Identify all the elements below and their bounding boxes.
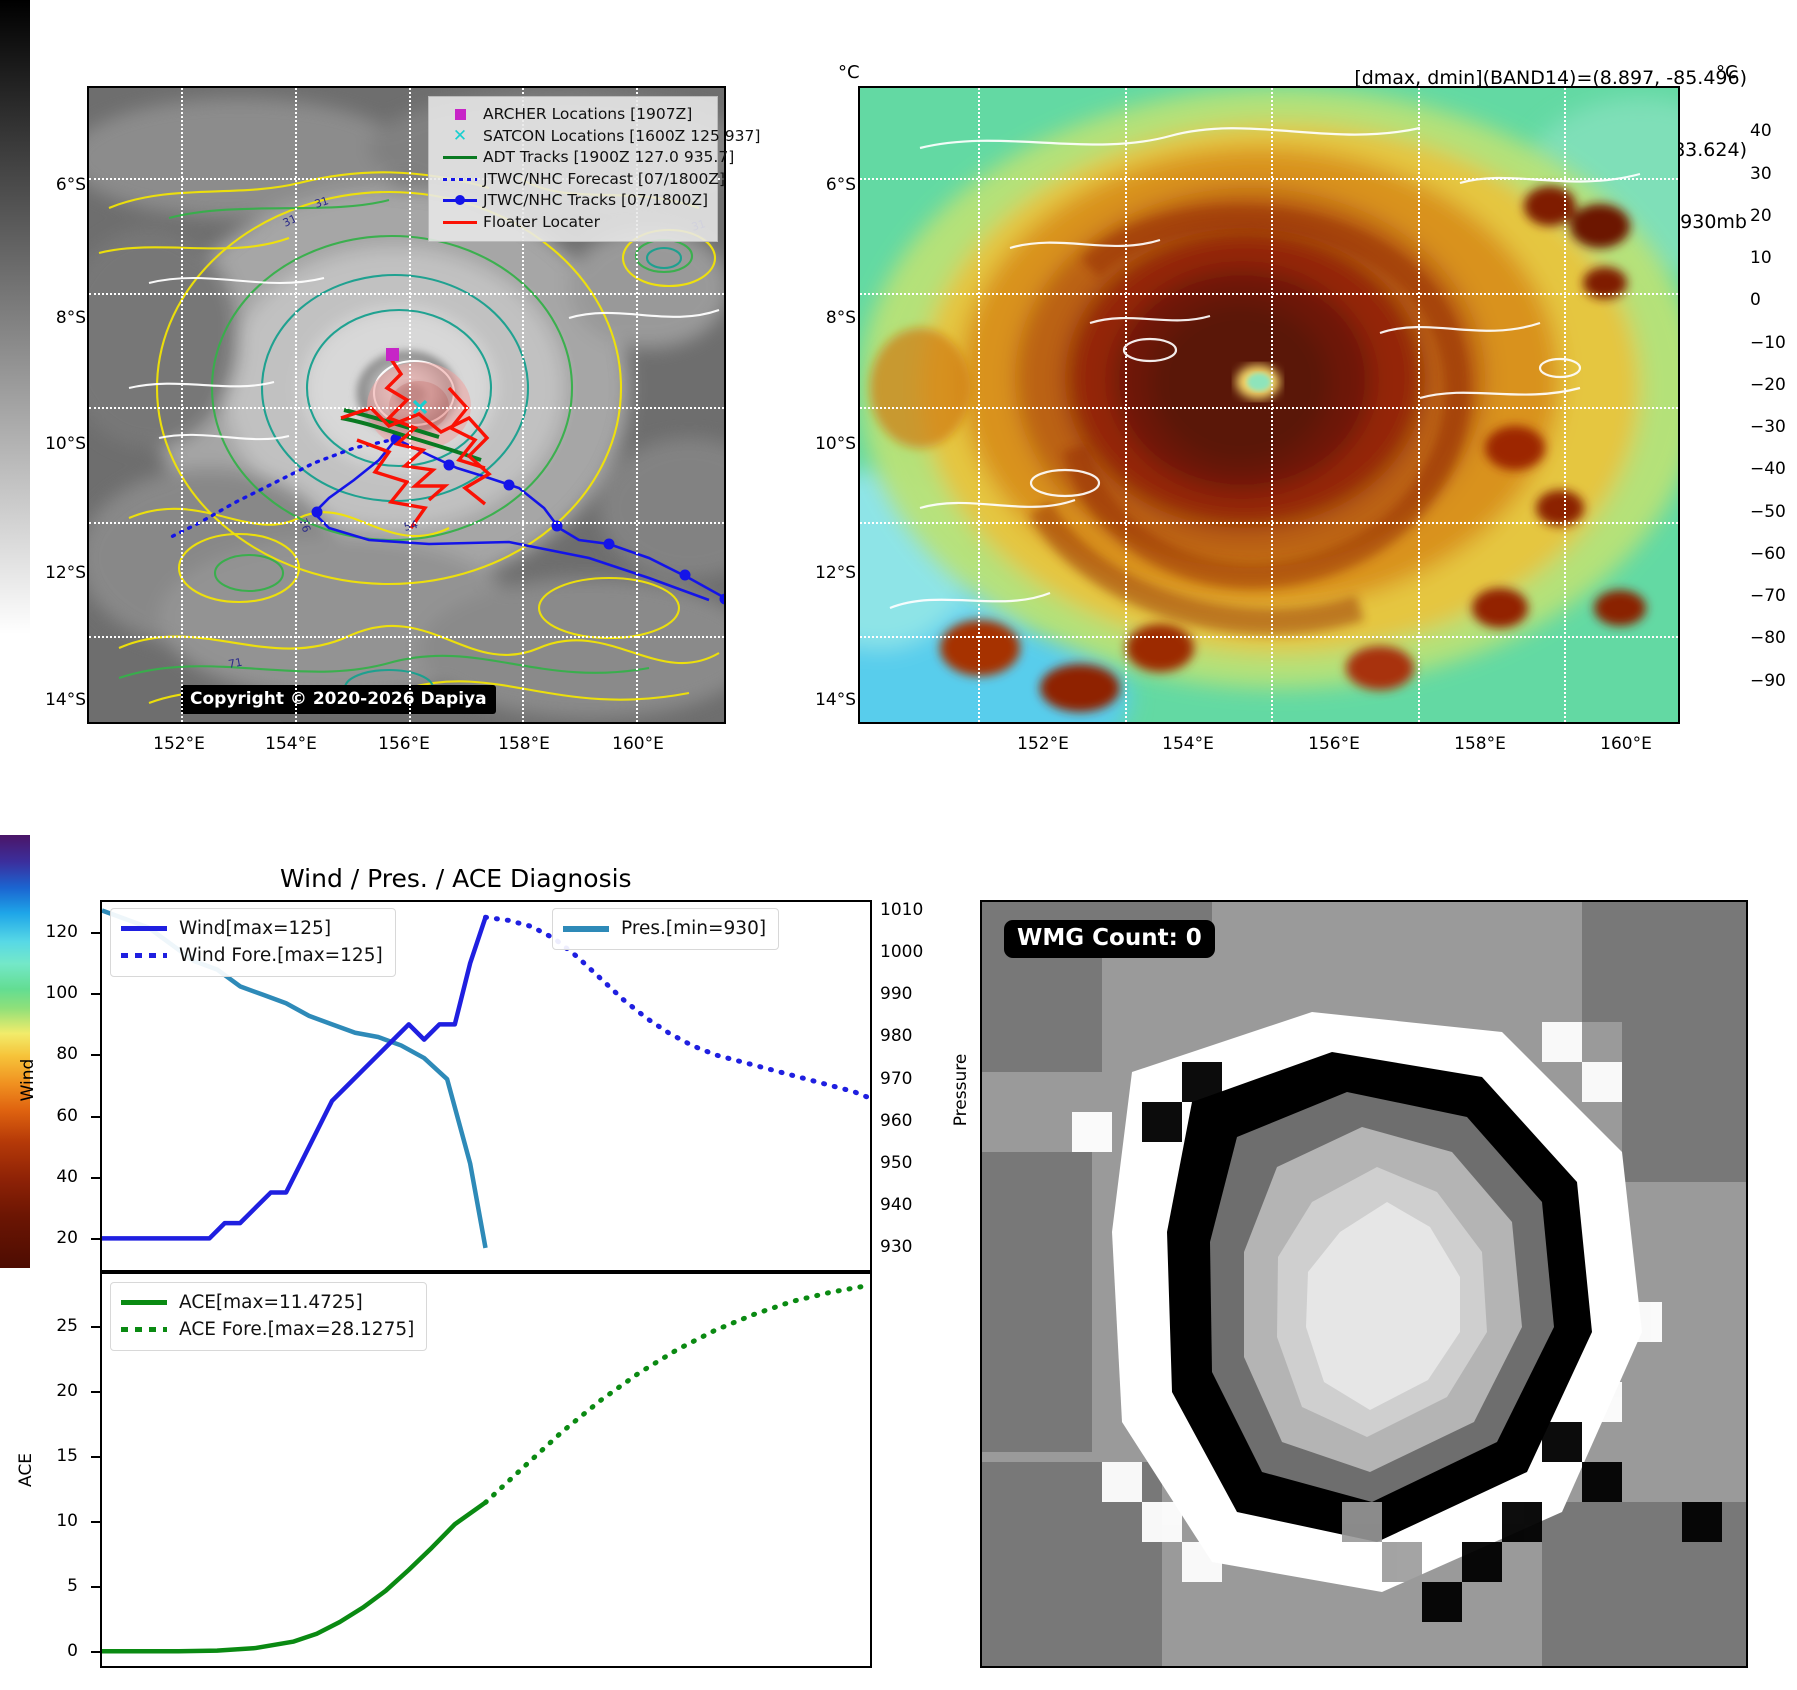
legend-item-floater: Floater Locater: [437, 212, 709, 234]
pressure-ytick-2: 950: [880, 1153, 932, 1173]
ace-chart-legend: ACE[max=11.4725] ACE Fore.[max=28.1275]: [110, 1282, 427, 1351]
legend-item-adt: ADT Tracks [1900Z 127.0 935.7]: [437, 147, 709, 169]
wind-ytick-0: 20: [28, 1228, 78, 1248]
map-gridline-horizontal: [860, 636, 1680, 638]
ace-ytick-1: 5: [34, 1576, 78, 1596]
wv-colorbar-tick-2: 20: [1750, 206, 1772, 226]
pressure-ytick-8: 1010: [880, 900, 932, 920]
wv-lon-tick-4: 160°E: [1586, 734, 1666, 754]
wv-colorbar-tick-13: −90: [1750, 671, 1786, 691]
svg-text:71: 71: [227, 656, 243, 671]
wind-ytickmark-2: [91, 1116, 100, 1118]
copyright-badge: Copyright © 2020-2026 Dapiya: [181, 685, 496, 714]
map-gridline-horizontal: [860, 522, 1680, 524]
wind-ytick-1: 40: [28, 1167, 78, 1187]
legend-item-ace-forecast: ACE Fore.[max=28.1275]: [121, 1316, 414, 1343]
ir-colorbar-unit: °C: [838, 62, 860, 83]
wv-colorbar: [0, 634, 30, 1268]
ir-lat-tick-4: 14°S: [22, 690, 86, 710]
wind-ytickmark-4: [91, 993, 100, 995]
legend-item-wind-forecast: Wind Fore.[max=125]: [121, 942, 383, 969]
legend-label-wind-forecast: Wind Fore.[max=125]: [179, 945, 383, 966]
ir-lon-tick-1: 154°E: [256, 734, 326, 754]
wv-lon-tick-1: 154°E: [1148, 734, 1228, 754]
ace-axis-label: ACE: [16, 1440, 36, 1500]
wv-colorbar-tick-5: −10: [1750, 333, 1786, 353]
legend-label-forecast: JTWC/NHC Forecast [07/1800Z]: [483, 169, 725, 191]
legend-label-floater: Floater Locater: [483, 212, 600, 234]
ace-forecast-line-icon: [121, 1327, 179, 1332]
legend-item-satcon: ✕ SATCON Locations [1600Z 125 937]: [437, 126, 709, 148]
wind-ytickmark-5: [91, 932, 100, 934]
map-gridline-horizontal: [89, 522, 726, 524]
wv-colorbar-tick-7: −30: [1750, 417, 1786, 437]
ir-map-legend: ARCHER Locations [1907Z] ✕ SATCON Locati…: [428, 96, 718, 242]
ir-lat-tick-3: 12°S: [22, 563, 86, 583]
red-line-icon: [437, 221, 483, 224]
wind-chart-legend-right: Pres.[min=930]: [552, 908, 779, 950]
wind-ytick-3: 80: [28, 1044, 78, 1064]
ace-ytick-4: 20: [34, 1381, 78, 1401]
wv-colorbar-tick-11: −70: [1750, 586, 1786, 606]
ace-ytick-3: 15: [34, 1446, 78, 1466]
ace-ytickmark-3: [91, 1456, 100, 1458]
map-gridline-horizontal: [89, 407, 726, 409]
ir-lat-tick-2: 10°S: [22, 434, 86, 454]
map-gridline-vertical: [181, 88, 183, 724]
pressure-ytick-7: 1000: [880, 942, 932, 962]
wind-ytickmark-3: [91, 1054, 100, 1056]
ir-colorbar: [0, 0, 30, 634]
wind-pressure-chart[interactable]: Wind[max=125] Wind Fore.[max=125] Pres.[…: [100, 900, 872, 1272]
wmg-image: [982, 902, 1746, 1666]
pressure-ytick-1: 940: [880, 1195, 932, 1215]
legend-label-tracks: JTWC/NHC Tracks [07/1800Z]: [483, 190, 708, 212]
legend-label-ace-forecast: ACE Fore.[max=28.1275]: [179, 1319, 414, 1340]
ir-lon-tick-0: 152°E: [144, 734, 214, 754]
pressure-ytick-5: 980: [880, 1026, 932, 1046]
wv-lon-tick-2: 156°E: [1294, 734, 1374, 754]
wind-forecast-line-icon: [121, 953, 179, 958]
wind-chart-legend-left: Wind[max=125] Wind Fore.[max=125]: [110, 908, 396, 977]
map-gridline-vertical: [295, 88, 297, 724]
legend-item-tracks: JTWC/NHC Tracks [07/1800Z]: [437, 190, 709, 212]
map-gridline-vertical: [1418, 88, 1420, 724]
blue-line-dot-icon: [437, 199, 483, 202]
dashboard-root: HIMAWARI-9 BAND14-DIAS FLOATER Time: 202…: [0, 0, 1797, 1690]
wv-lat-tick-3: 12°S: [792, 563, 856, 583]
ace-ytickmark-2: [91, 1521, 100, 1523]
wv-lon-tick-3: 158°E: [1440, 734, 1520, 754]
pressure-ytick-4: 970: [880, 1069, 932, 1089]
green-line-icon: [437, 156, 483, 159]
pressure-ytick-6: 990: [880, 984, 932, 1004]
wv-colorbar-tick-9: −50: [1750, 502, 1786, 522]
map-gridline-vertical: [409, 88, 411, 724]
wind-ytick-4: 100: [28, 983, 78, 1003]
wv-lon-tick-0: 152°E: [1003, 734, 1083, 754]
map-gridline-horizontal: [860, 293, 1680, 295]
legend-label-adt: ADT Tracks [1900Z 127.0 935.7]: [483, 147, 734, 169]
pressure-line-icon: [563, 926, 621, 932]
wv-colorbar-tick-10: −60: [1750, 544, 1786, 564]
map-gridline-horizontal: [860, 407, 1680, 409]
legend-label-archer: ARCHER Locations [1907Z]: [483, 104, 692, 126]
map-gridline-horizontal: [860, 178, 1680, 180]
wv-colorbar-tick-8: −40: [1750, 459, 1786, 479]
ace-ytickmark-1: [91, 1586, 100, 1588]
wv-satellite-image: [860, 88, 1680, 724]
cyan-x-marker-icon: ✕: [437, 131, 483, 142]
map-gridline-vertical: [1125, 88, 1127, 724]
pressure-ytick-0: 930: [880, 1237, 932, 1257]
ir-lon-tick-3: 158°E: [489, 734, 559, 754]
ace-chart[interactable]: ACE[max=11.4725] ACE Fore.[max=28.1275]: [100, 1272, 872, 1668]
ace-ytick-0: 0: [34, 1641, 78, 1661]
ir-lon-tick-2: 156°E: [369, 734, 439, 754]
legend-label-wind: Wind[max=125]: [179, 918, 331, 939]
legend-label-pressure: Pres.[min=930]: [621, 918, 766, 939]
legend-item-ace: ACE[max=11.4725]: [121, 1289, 414, 1316]
map-gridline-horizontal: [89, 293, 726, 295]
wv-colorbar-tick-6: −20: [1750, 375, 1786, 395]
legend-item-forecast: JTWC/NHC Forecast [07/1800Z]: [437, 169, 709, 191]
wv-colorbar-tick-1: 30: [1750, 164, 1772, 184]
wind-line-icon: [121, 926, 179, 931]
wv-colorbar-unit: °C: [1716, 62, 1738, 83]
wind-ytickmark-1: [91, 1177, 100, 1179]
wv-color-map[interactable]: [858, 86, 1680, 724]
map-gridline-vertical: [1271, 88, 1273, 724]
magenta-square-marker-icon: [437, 109, 483, 120]
wv-colorbar-tick-4: 0: [1750, 290, 1761, 310]
wv-lat-tick-4: 14°S: [792, 690, 856, 710]
ace-ytickmark-0: [91, 1651, 100, 1653]
wv-colorbar-tick-3: 10: [1750, 248, 1772, 268]
wv-lat-tick-1: 8°S: [800, 308, 856, 328]
blue-dotted-line-icon: [437, 178, 483, 181]
legend-item-wind: Wind[max=125]: [121, 915, 383, 942]
legend-label-ace: ACE[max=11.4725]: [179, 1292, 363, 1313]
wmg-panel[interactable]: WMG Count: 0: [980, 900, 1748, 1668]
diagnosis-title: Wind / Pres. / ACE Diagnosis: [280, 864, 632, 893]
wv-lat-tick-0: 6°S: [800, 175, 856, 195]
wmg-count-badge: WMG Count: 0: [1004, 920, 1215, 958]
legend-label-satcon: SATCON Locations [1600Z 125 937]: [483, 126, 760, 148]
ace-line-icon: [121, 1300, 179, 1305]
ace-ytick-2: 10: [34, 1511, 78, 1531]
wv-colorbar-tick-12: −80: [1750, 628, 1786, 648]
wind-ytick-5: 120: [28, 922, 78, 942]
pressure-ytick-3: 960: [880, 1111, 932, 1131]
wv-colorbar-tick-0: 40: [1750, 121, 1772, 141]
pressure-axis-label: Pressure: [951, 1045, 971, 1135]
wv-lat-tick-2: 10°S: [792, 434, 856, 454]
wind-ytick-2: 60: [28, 1106, 78, 1126]
ace-ytickmark-5: [91, 1326, 100, 1328]
map-gridline-vertical: [1564, 88, 1566, 724]
legend-item-archer: ARCHER Locations [1907Z]: [437, 104, 709, 126]
ir-lon-tick-4: 160°E: [603, 734, 673, 754]
legend-item-pressure: Pres.[min=930]: [563, 915, 766, 942]
map-gridline-horizontal: [89, 636, 726, 638]
ace-ytickmark-4: [91, 1391, 100, 1393]
map-gridline-vertical: [978, 88, 980, 724]
wind-ytickmark-0: [91, 1238, 100, 1240]
ir-lat-tick-1: 8°S: [30, 308, 86, 328]
ace-ytick-5: 25: [34, 1316, 78, 1336]
ir-lat-tick-0: 6°S: [30, 175, 86, 195]
